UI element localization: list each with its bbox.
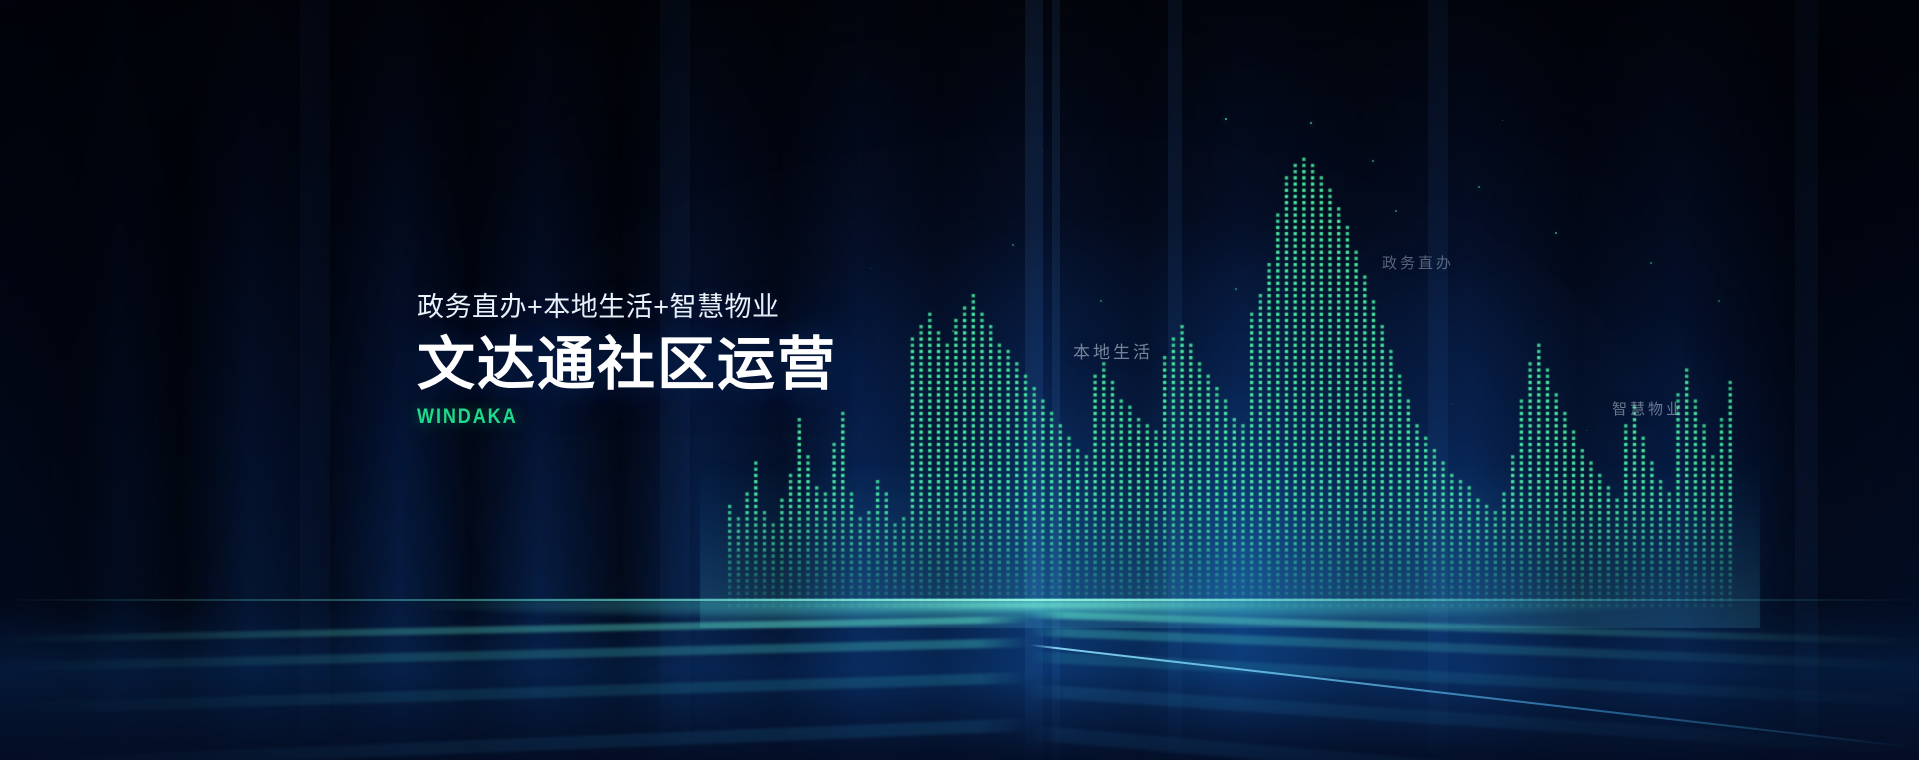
sparkle-particle <box>1100 300 1102 302</box>
skyline-label-smart-property: 智慧物业 <box>1612 398 1684 419</box>
perspective-floor <box>0 598 1919 760</box>
hero-title: 文达通社区运营 <box>417 334 1057 397</box>
skyline-label-local-life: 本地生活 <box>1073 338 1153 363</box>
sparkle-particle <box>1650 262 1652 264</box>
horizon-line <box>0 599 1919 601</box>
sparkle-particle <box>1718 300 1720 302</box>
hero-text-block: 政务直办+本地生活+智慧物业 文达通社区运营 WINDAKA <box>417 293 1057 429</box>
sparkle-particle <box>1235 288 1237 290</box>
skyline-label-government-service: 政务直办 <box>1382 252 1454 273</box>
sparkle-particle <box>1225 118 1227 120</box>
hero-banner: 本地生活 政务直办 智慧物业 政务直办+本地生活+智慧物业 文达通社区运营 WI… <box>0 0 1919 760</box>
sparkle-particle <box>1310 122 1312 124</box>
sparkle-particle <box>1395 210 1397 212</box>
horizon-glow <box>0 598 1919 618</box>
hero-tagline: 政务直办+本地生活+智慧物业 <box>417 293 1057 323</box>
sparkle-particle <box>1372 160 1374 162</box>
sparkle-particle <box>1012 244 1014 246</box>
sparkle-particle <box>1478 186 1480 188</box>
brand-wordmark: WINDAKA <box>417 405 967 429</box>
